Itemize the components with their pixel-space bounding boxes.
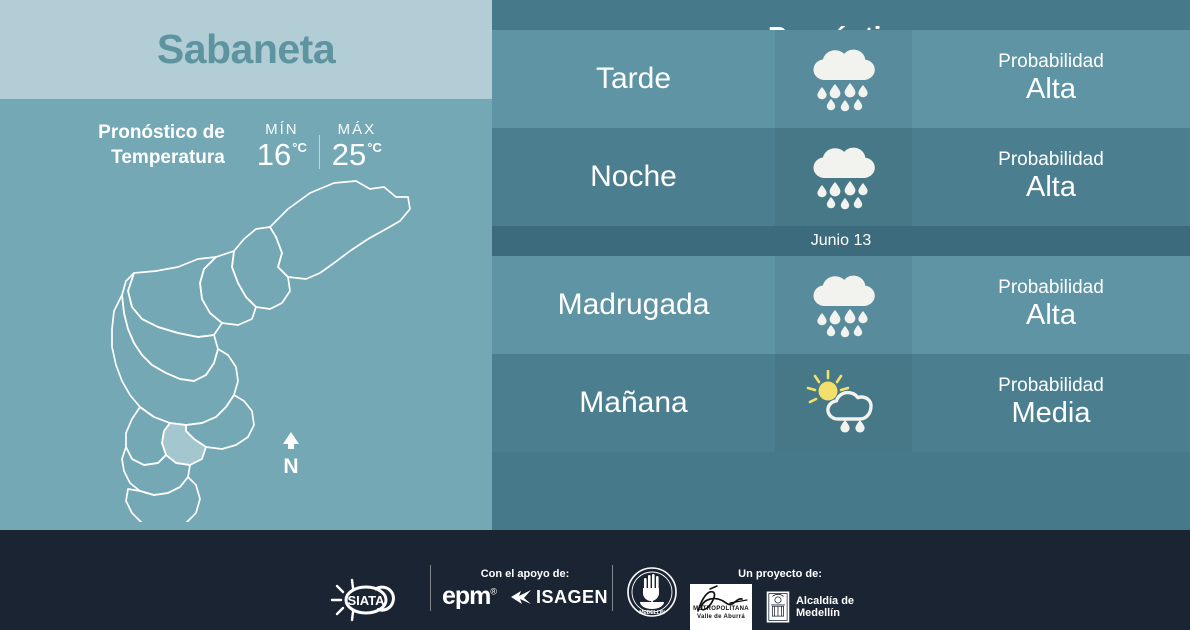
probability-word: Probabilidad xyxy=(998,149,1104,171)
footer-logos: SIATA Con el apoyo de: epm® ISAGEN xyxy=(0,530,1190,620)
compass-label: N xyxy=(276,456,306,477)
date-band: Junio 13 xyxy=(492,226,1190,256)
period-cell: Tarde xyxy=(492,30,775,128)
rain-cloud-icon xyxy=(805,272,883,338)
alcaldia-shield-icon xyxy=(766,584,790,630)
epm-registered-mark: ® xyxy=(490,587,496,597)
rain-cloud-icon xyxy=(805,144,883,210)
period-cell: Mañana xyxy=(492,354,775,452)
amva-text: METROPOLITANA Valle de Aburrá xyxy=(690,606,752,621)
weather-icon-cell xyxy=(775,354,912,452)
period-cell: Madrugada xyxy=(492,256,775,354)
period-label: Noche xyxy=(590,160,677,194)
forecast-row[interactable]: Tarde Probabilidad xyxy=(492,30,1190,128)
probability-value: Alta xyxy=(1026,299,1076,332)
temperature-map-panel: Pronóstico de Temperatura MÍN 16°C MÁX xyxy=(0,99,492,530)
temperature-label-line1: Pronóstico de xyxy=(98,121,225,145)
period-label: Tarde xyxy=(596,62,671,96)
temperature-min-unit: °C xyxy=(292,141,307,154)
footer-divider xyxy=(612,565,613,611)
temperature-max-value: 25°C xyxy=(332,139,382,170)
sun-rain-cloud-icon xyxy=(805,370,883,436)
svg-text:SIATA: SIATA xyxy=(347,593,385,608)
support-logo-row: epm® ISAGEN xyxy=(442,584,608,609)
period-cell: Noche xyxy=(492,128,775,226)
epm-logo-text: epm xyxy=(442,582,490,610)
forecast-row[interactable]: Noche Probabilidad xyxy=(492,128,1190,226)
period-label: Madrugada xyxy=(558,288,710,322)
temperature-block: Pronóstico de Temperatura MÍN 16°C MÁX xyxy=(0,121,492,170)
temperature-min-number: 16 xyxy=(257,139,291,170)
footer-divider xyxy=(430,565,431,611)
alcaldia-text: Alcaldía de Medellín xyxy=(796,595,870,619)
temperature-values: MÍN 16°C MÁX 25°C xyxy=(245,121,394,170)
support-group: Con el apoyo de: epm® ISAGEN xyxy=(440,568,610,609)
valle-de-aburra-map xyxy=(38,167,458,522)
isagen-mark-icon xyxy=(510,588,532,606)
temperature-max-number: 25 xyxy=(332,139,366,170)
university-seal-icon: MEDELLIN xyxy=(623,566,681,618)
weather-icon-cell xyxy=(775,128,912,226)
footer: SIATA Con el apoyo de: epm® ISAGEN xyxy=(0,530,1190,620)
rain-cloud-icon xyxy=(805,46,883,112)
epm-logo: epm® xyxy=(442,584,496,609)
compass: N xyxy=(276,431,306,477)
probability-cell: Probabilidad Alta xyxy=(912,256,1190,354)
project-caption: Un proyecto de: xyxy=(738,568,822,580)
city-header: Sabaneta xyxy=(0,0,492,99)
probability-word: Probabilidad xyxy=(998,375,1104,397)
universidad-nacional-seal: MEDELLIN xyxy=(623,566,681,618)
isagen-logo: ISAGEN xyxy=(510,588,608,606)
temperature-min: MÍN 16°C xyxy=(245,121,319,170)
probability-cell: Probabilidad Alta xyxy=(912,128,1190,226)
temperature-max: MÁX 25°C xyxy=(320,121,394,170)
seal-text: MEDELLIN xyxy=(639,610,665,616)
infographic-stage: Sabaneta Pronóstico de Temperatura MÍN 1… xyxy=(0,0,1190,620)
temperature-min-caption: MÍN xyxy=(265,121,299,138)
isagen-logo-text: ISAGEN xyxy=(536,588,608,606)
precipitation-panel: Pronóstico de Precipitación Junio 12 Tar… xyxy=(492,0,1190,530)
page-title: Sabaneta xyxy=(157,26,335,73)
siata-logo: SIATA xyxy=(330,578,420,622)
probability-value: Media xyxy=(1012,397,1091,430)
area-metropolitana-logo: METROPOLITANA Valle de Aburrá xyxy=(690,584,752,630)
north-arrow-icon xyxy=(280,431,302,451)
amva-line2: METROPOLITANA xyxy=(690,606,752,614)
date-label: Junio 13 xyxy=(811,232,872,250)
alcaldia-medellin-logo: Alcaldía de Medellín xyxy=(766,584,870,630)
temperature-min-value: 16°C xyxy=(257,139,307,170)
probability-value: Alta xyxy=(1026,171,1076,204)
left-panel: Sabaneta Pronóstico de Temperatura MÍN 1… xyxy=(0,0,492,530)
temperature-max-unit: °C xyxy=(367,141,382,154)
period-label: Mañana xyxy=(579,386,687,420)
probability-word: Probabilidad xyxy=(998,51,1104,73)
probability-word: Probabilidad xyxy=(998,277,1104,299)
probability-value: Alta xyxy=(1026,73,1076,106)
weather-icon-cell xyxy=(775,30,912,128)
temperature-label: Pronóstico de Temperatura xyxy=(98,121,225,170)
probability-cell: Probabilidad Alta xyxy=(912,30,1190,128)
weather-icon-cell xyxy=(775,256,912,354)
support-caption: Con el apoyo de: xyxy=(481,568,570,580)
temperature-max-caption: MÁX xyxy=(338,121,377,138)
forecast-row[interactable]: Mañana xyxy=(492,354,1190,452)
forecast-row[interactable]: Madrugada Probabilid xyxy=(492,256,1190,354)
siata-sun-cloud-icon: SIATA xyxy=(330,578,420,622)
project-logo-row: METROPOLITANA Valle de Aburrá xyxy=(690,584,870,630)
probability-cell: Probabilidad Media xyxy=(912,354,1190,452)
project-group: Un proyecto de: METROPOLITANA Valle de A… xyxy=(690,568,870,630)
